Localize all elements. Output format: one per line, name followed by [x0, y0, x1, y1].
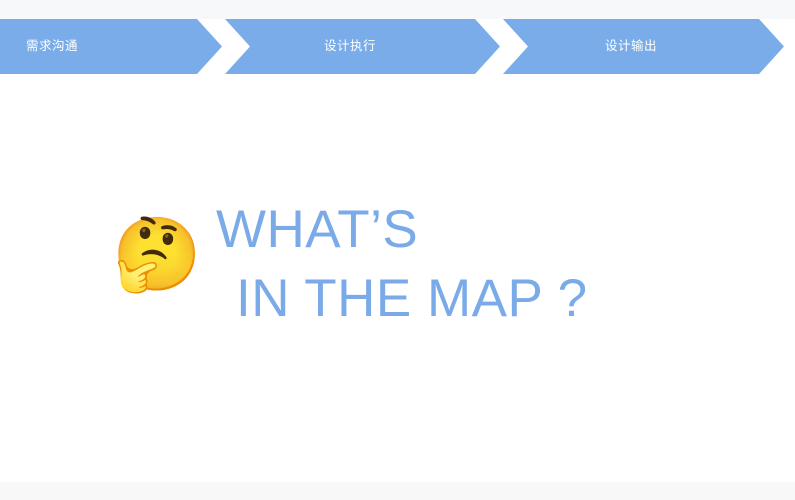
process-step-2-label: 设计执行 [225, 40, 475, 53]
headline-line-2: IN THE MAP ? [216, 265, 588, 334]
process-chevron-bar: 需求沟通 设计执行 设计输出 [0, 19, 795, 74]
bottom-margin-strip [0, 482, 795, 500]
process-step-3-label: 设计输出 [503, 40, 759, 53]
process-step-3[interactable]: 设计输出 [503, 19, 784, 74]
page-title: WHAT’S IN THE MAP ? [216, 196, 588, 334]
process-step-2[interactable]: 设计执行 [225, 19, 500, 74]
headline-block: 🤔 WHAT’S IN THE MAP ? [112, 196, 732, 334]
slide-canvas: 需求沟通 设计执行 设计输出 🤔 WHAT’S IN THE MAP ? [0, 0, 795, 500]
process-step-1-label: 需求沟通 [26, 40, 78, 53]
top-margin-strip [0, 0, 795, 19]
headline-line-1: WHAT’S [216, 196, 588, 265]
process-step-1[interactable]: 需求沟通 [0, 19, 222, 74]
thinking-face-emoji: 🤔 [112, 218, 200, 290]
